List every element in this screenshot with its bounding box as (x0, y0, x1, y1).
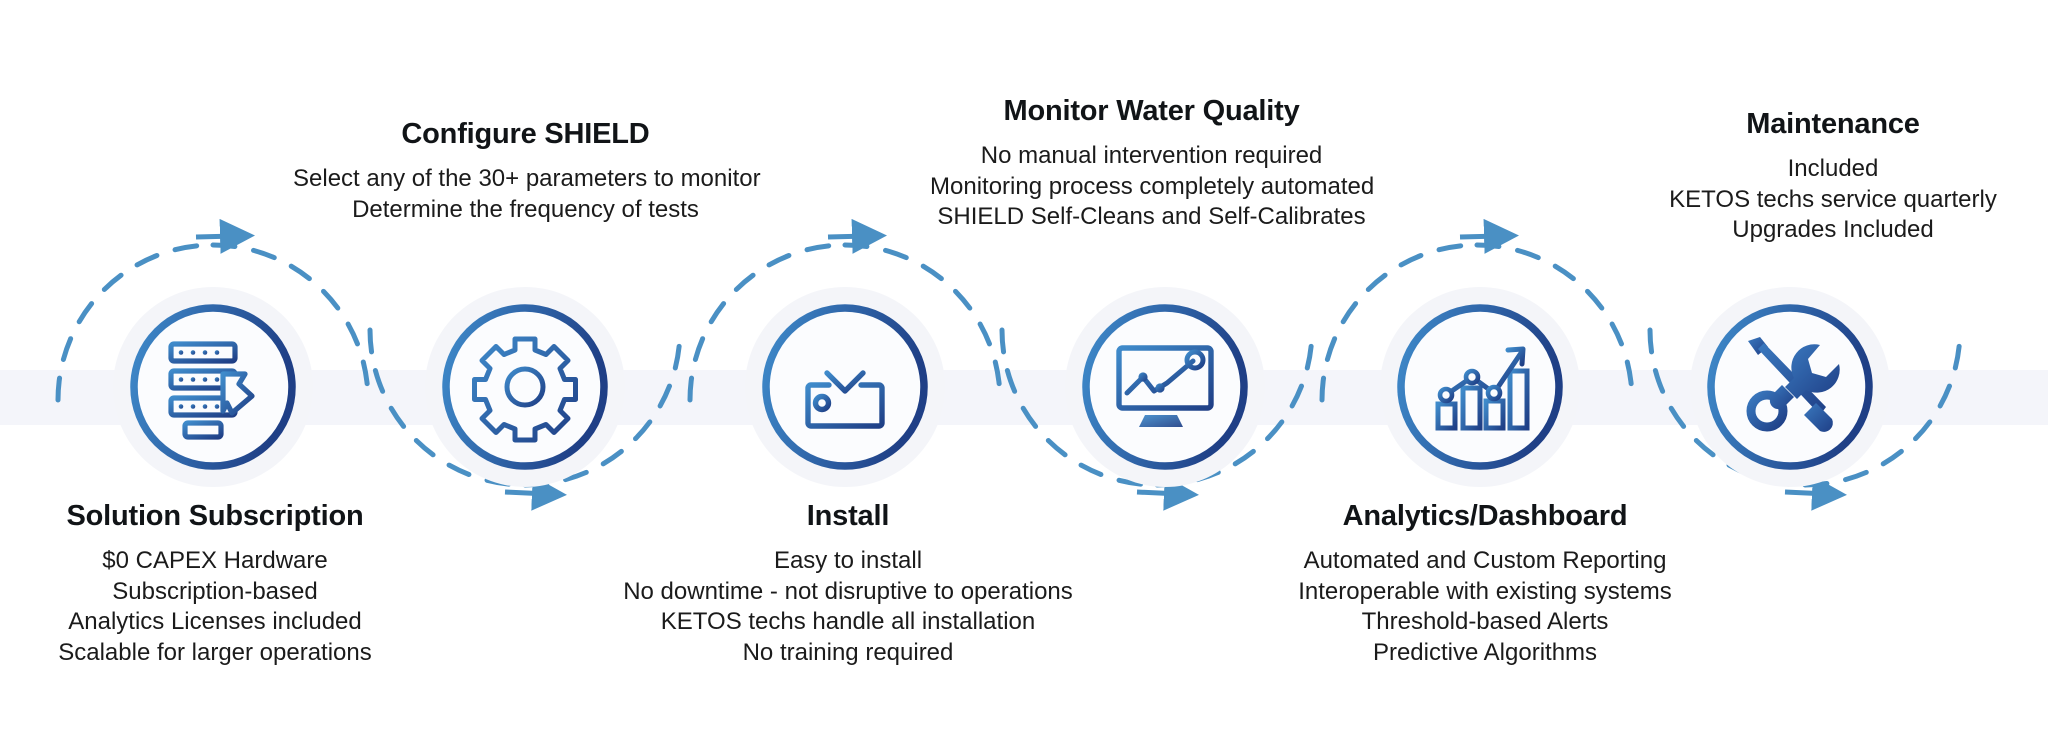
step-line: Predictive Algorithms (1280, 638, 1690, 669)
step-line: Automated and Custom Reporting (1280, 546, 1690, 577)
monitor-chart-icon (1109, 331, 1221, 443)
step-title: Maintenance (1618, 108, 2048, 141)
step-description: Easy to install No downtime - not disrup… (608, 546, 1088, 669)
bar-chart-trend-icon (1424, 331, 1536, 443)
gear-icon (469, 331, 581, 443)
step-text-monitor-water-quality: Monitor Water Quality No manual interven… (930, 95, 1373, 233)
server-stack-arrow-icon (157, 331, 269, 443)
step-description: $0 CAPEX Hardware Subscription-based Ana… (0, 546, 430, 669)
step-line: Analytics Licenses included (0, 607, 430, 638)
step-line: KETOS techs service quarterly (1618, 185, 2048, 216)
step-line: Scalable for larger operations (0, 638, 430, 669)
step-line: Easy to install (608, 546, 1088, 577)
step-title: Analytics/Dashboard (1280, 500, 1690, 533)
step-line: Included (1618, 154, 2048, 185)
step-line: Threshold-based Alerts (1280, 607, 1690, 638)
step-line: No manual intervention required (930, 141, 1373, 172)
step-line: Upgrades Included (1618, 215, 2048, 246)
step-line: No training required (608, 638, 1088, 669)
step-title: Configure SHIELD (293, 118, 758, 151)
step-node-maintenance[interactable] (1690, 287, 1890, 487)
step-description: Automated and Custom Reporting Interoper… (1280, 546, 1690, 669)
step-line: Monitoring process completely automated (930, 172, 1373, 203)
step-line: Determine the frequency of tests (293, 195, 758, 226)
step-description: No manual intervention required Monitori… (930, 141, 1373, 233)
step-node-monitor-water-quality[interactable] (1065, 287, 1265, 487)
step-description: Included KETOS techs service quarterly U… (1618, 154, 2048, 246)
step-text-configure-shield: Configure SHIELD Select any of the 30+ p… (293, 118, 758, 225)
step-title: Monitor Water Quality (930, 95, 1373, 128)
step-text-solution-subscription: Solution Subscription $0 CAPEX Hardware … (0, 500, 430, 669)
step-node-solution-subscription[interactable] (113, 287, 313, 487)
step-title: Solution Subscription (0, 500, 430, 533)
step-line: SHIELD Self-Cleans and Self-Calibrates (930, 202, 1373, 233)
step-node-configure-shield[interactable] (425, 287, 625, 487)
step-text-maintenance: Maintenance Included KETOS techs service… (1618, 108, 2048, 246)
step-line: Subscription-based (0, 577, 430, 608)
step-title: Install (608, 500, 1088, 533)
wrench-screwdriver-icon (1734, 331, 1846, 443)
download-tray-icon (789, 331, 901, 443)
step-node-install[interactable] (745, 287, 945, 487)
step-line: Select any of the 30+ parameters to moni… (293, 164, 758, 195)
step-text-analytics-dashboard: Analytics/Dashboard Automated and Custom… (1280, 500, 1690, 669)
step-description: Select any of the 30+ parameters to moni… (293, 164, 758, 225)
step-line: No downtime - not disruptive to operatio… (608, 577, 1088, 608)
step-line: $0 CAPEX Hardware (0, 546, 430, 577)
infographic-canvas: Solution Subscription $0 CAPEX Hardware … (0, 0, 2048, 736)
step-line: KETOS techs handle all installation (608, 607, 1088, 638)
step-text-install: Install Easy to install No downtime - no… (608, 500, 1088, 669)
step-node-analytics-dashboard[interactable] (1380, 287, 1580, 487)
step-line: Interoperable with existing systems (1280, 577, 1690, 608)
